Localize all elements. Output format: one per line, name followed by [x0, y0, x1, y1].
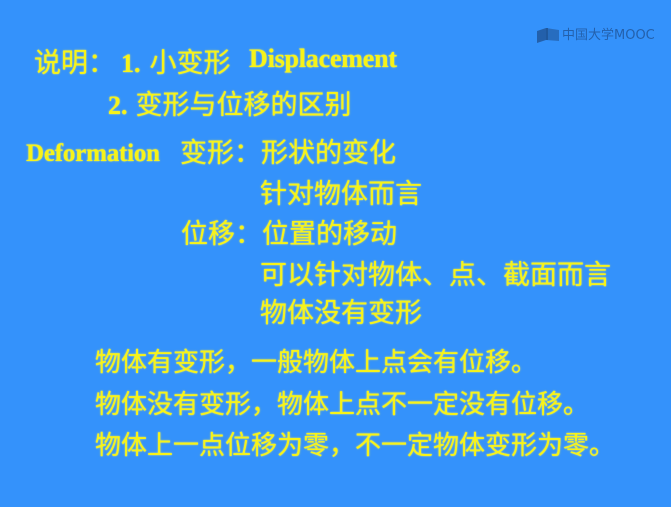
deformation-definition-line: 变形：形状的变化 [180, 139, 396, 168]
conclusion-line-3: 物体上一点位移为零，不一定物体变形为零。 [95, 432, 615, 461]
lecture-slide: 中国大学MOOC 说明：1.小变形 Displacement 2.变形与位移的区… [0, 0, 671, 507]
heading-item2-number: 2. [108, 91, 128, 120]
displacement-scope-line: 可以针对物体、点、截面而言 [260, 261, 611, 290]
heading-item-1: 说明：1.小变形 [34, 48, 231, 79]
mooc-wordmark: 中国大学MOOC [562, 28, 655, 43]
heading-item-2: 2.变形与位移的区别 [108, 90, 352, 121]
displacement-definition-line: 位移：位置的移动 [181, 220, 397, 249]
deformation-scope-line: 针对物体而言 [260, 180, 422, 209]
heading-item2-text: 变形与位移的区别 [136, 90, 352, 121]
heading-label: 说明： [34, 48, 115, 79]
mooc-book-icon [537, 28, 559, 43]
heading-item1-english: Displacement [249, 44, 397, 74]
deformation-english-label: Deformation [26, 139, 160, 168]
heading-item1-text: 小变形 [150, 48, 231, 79]
heading-item1-number: 1. [121, 49, 141, 78]
conclusion-line-2: 物体没有变形，物体上点不一定没有位移。 [95, 391, 589, 420]
mooc-watermark: 中国大学MOOC [537, 28, 655, 43]
displacement-note-line: 物体没有变形 [260, 299, 422, 328]
conclusion-line-1: 物体有变形，一般物体上点会有位移。 [95, 349, 537, 378]
